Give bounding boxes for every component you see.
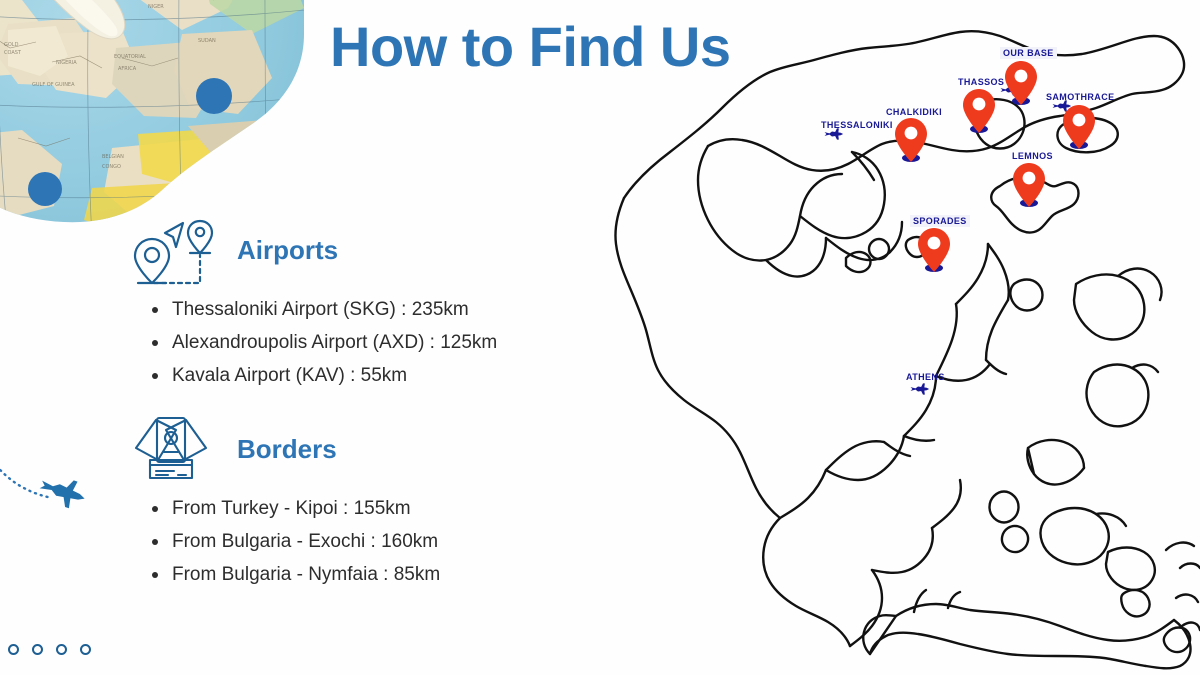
accent-dot xyxy=(196,78,232,114)
svg-text:AFRICA: AFRICA xyxy=(118,66,137,72)
pager-dot-1[interactable] xyxy=(8,644,19,655)
map-pin-chalkidiki[interactable] xyxy=(894,117,928,163)
map-pin-samothrace[interactable] xyxy=(1062,104,1096,150)
map-label-athens: ATHENS xyxy=(906,372,945,382)
slide-canvas: GOLDCOAST NIGERIA EQUATORIAL AFRICA LIBY… xyxy=(0,0,1200,675)
passport-documents-icon xyxy=(128,414,220,490)
svg-text:COAST: COAST xyxy=(4,50,22,56)
airports-list: Thessaloniki Airport (SKG) : 235km Alexa… xyxy=(0,293,600,392)
pagination-dots[interactable] xyxy=(8,644,91,655)
section-airports: Airports Thessaloniki Airport (SKG) : 23… xyxy=(0,215,600,392)
section-title-airports: Airports xyxy=(237,235,338,266)
map-label-thessaloniki: THESSALONIKI xyxy=(821,120,893,130)
map-pin-lemnos[interactable] xyxy=(1012,162,1046,208)
list-item: From Bulgaria - Nymfaia : 85km xyxy=(0,558,600,591)
map-label-samothrace: SAMOTHRACE xyxy=(1046,92,1115,102)
pager-dot-3[interactable] xyxy=(56,644,67,655)
svg-text:NIGERIA: NIGERIA xyxy=(56,60,77,66)
svg-text:CONGO: CONGO xyxy=(102,164,121,170)
list-item: Thessaloniki Airport (SKG) : 235km xyxy=(0,293,600,326)
map-pin-sporades[interactable] xyxy=(917,227,951,273)
map-pin-our-base[interactable] xyxy=(1004,60,1038,106)
list-item: Alexandroupolis Airport (AXD) : 125km xyxy=(0,326,600,359)
greece-map: OUR BASE THASSOS SAMOTHRACE CHALKIDIKI T… xyxy=(596,12,1200,675)
svg-text:GULF OF GUINEA: GULF OF GUINEA xyxy=(32,82,75,88)
svg-text:NIGER: NIGER xyxy=(148,4,164,10)
svg-text:BELGIAN: BELGIAN xyxy=(102,154,124,160)
svg-text:GOLD: GOLD xyxy=(4,42,19,48)
map-label-sporades: SPORADES xyxy=(910,215,970,227)
map-pin-thassos[interactable] xyxy=(962,88,996,134)
location-pins-route-icon xyxy=(128,215,220,291)
accent-dot xyxy=(28,172,62,206)
map-label-lemnos: LEMNOS xyxy=(1012,151,1053,161)
map-label-chalkidiki: CHALKIDIKI xyxy=(886,107,942,117)
section-header: Airports xyxy=(0,215,600,293)
map-label-thassos: THASSOS xyxy=(958,77,1004,87)
section-title-borders: Borders xyxy=(237,434,337,465)
airplane-dotted-path-icon xyxy=(0,410,130,530)
list-item: Kavala Airport (KAV) : 55km xyxy=(0,359,600,392)
pager-dot-2[interactable] xyxy=(32,644,43,655)
svg-text:EQUATORIAL: EQUATORIAL xyxy=(114,54,146,60)
svg-text:SUDAN: SUDAN xyxy=(198,38,216,44)
map-label-our-base: OUR BASE xyxy=(1000,47,1057,59)
pager-dot-4[interactable] xyxy=(80,644,91,655)
